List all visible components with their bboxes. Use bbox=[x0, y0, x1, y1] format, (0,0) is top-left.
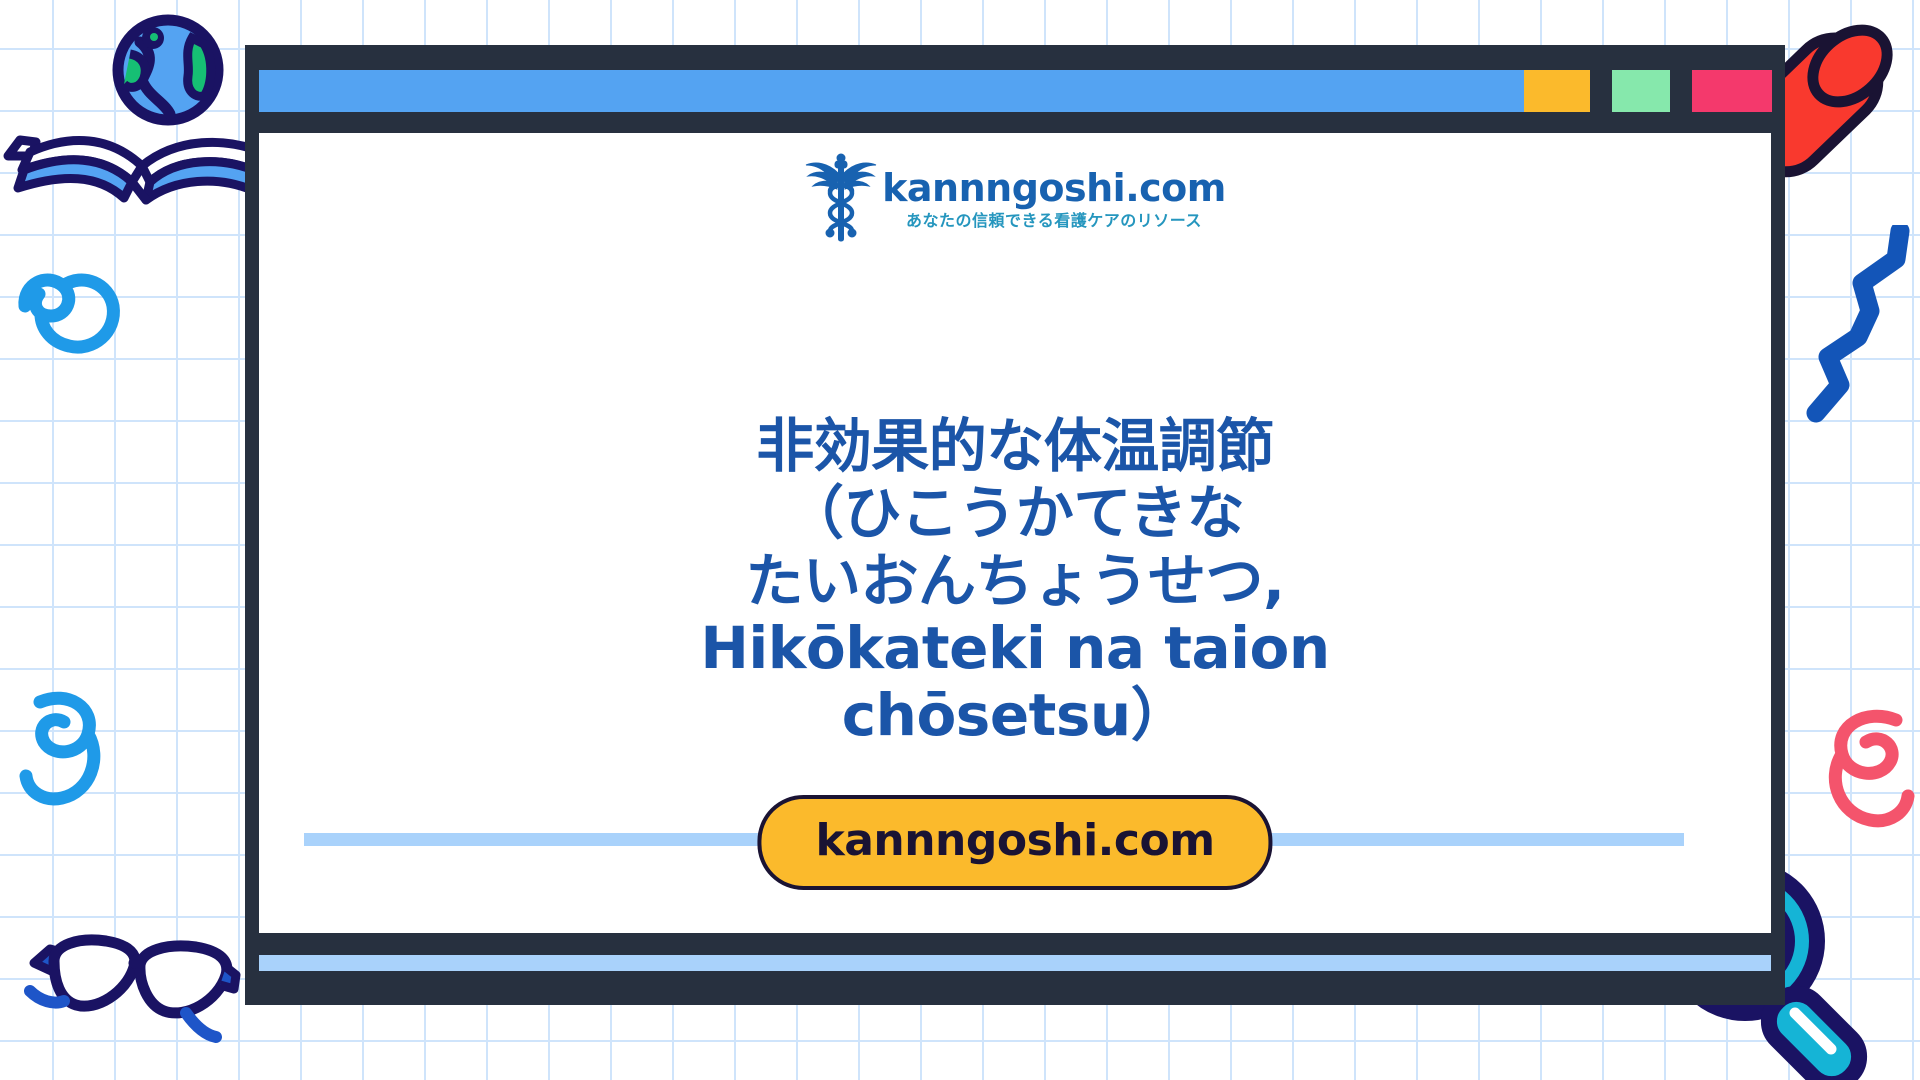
page-root: kannngoshi.com あなたの信頼できる看護ケアのリソース 非効果的な体… bbox=[0, 0, 1920, 1080]
open-book-icon bbox=[0, 78, 270, 238]
site-logo[interactable]: kannngoshi.com あなたの信頼できる看護ケアのリソース bbox=[259, 153, 1771, 245]
titlebar-segments bbox=[259, 70, 1771, 112]
titlebar-gap bbox=[1670, 70, 1692, 112]
swatch-amber[interactable] bbox=[1524, 70, 1590, 112]
address-bar[interactable] bbox=[259, 70, 1524, 112]
logo-tagline: あなたの信頼できる看護ケアのリソース bbox=[906, 213, 1202, 229]
logo-wordmark: kannngoshi.com bbox=[882, 169, 1226, 207]
bottombar-stripe bbox=[259, 955, 1771, 971]
cta-button[interactable]: kannngoshi.com bbox=[757, 795, 1272, 890]
swirl-icon bbox=[10, 680, 130, 820]
glasses-icon bbox=[20, 905, 245, 1065]
titlebar-gap bbox=[1590, 70, 1612, 112]
page-content: kannngoshi.com あなたの信頼できる看護ケアのリソース 非効果的な体… bbox=[259, 133, 1771, 933]
browser-bottombar bbox=[245, 933, 1785, 1005]
swatch-green[interactable] bbox=[1612, 70, 1670, 112]
zigzag-icon bbox=[1788, 225, 1920, 435]
swatch-pink[interactable] bbox=[1692, 70, 1772, 112]
browser-window-card: kannngoshi.com あなたの信頼できる看護ケアのリソース 非効果的な体… bbox=[245, 45, 1785, 1005]
swirl-icon bbox=[5, 250, 135, 380]
globe-icon bbox=[108, 10, 228, 130]
browser-titlebar bbox=[245, 45, 1785, 133]
caduceus-icon bbox=[804, 153, 878, 245]
page-title: 非効果的な体温調節 （ひこうかてきな たいおんちょうせつ, Hikōkateki… bbox=[259, 413, 1771, 749]
swirl-icon bbox=[1800, 700, 1920, 840]
